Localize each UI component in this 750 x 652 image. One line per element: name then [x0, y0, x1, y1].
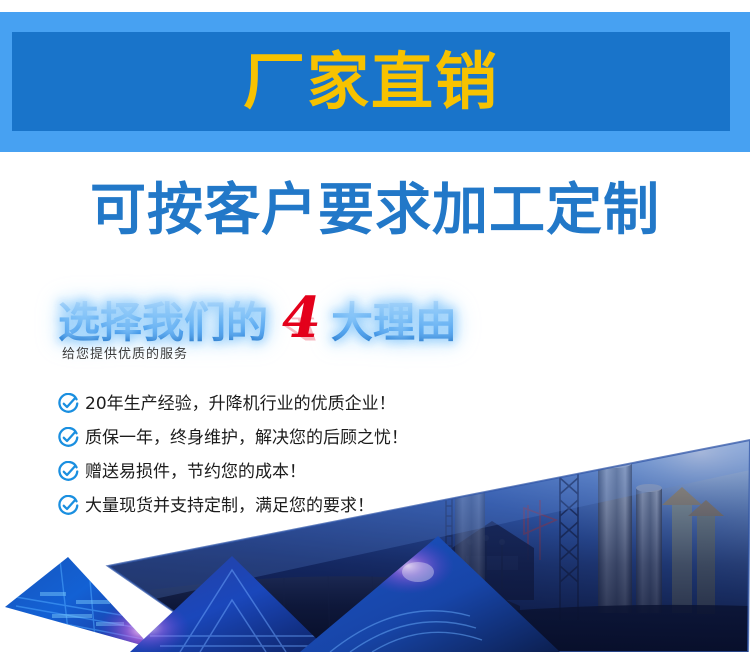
list-item-label: 赠送易损件，节约您的成本！: [85, 461, 306, 483]
reasons-heading-suffix: 大理由: [331, 299, 457, 347]
check-circle-icon: [58, 427, 79, 448]
center-triangle-shape: [110, 540, 350, 652]
list-item-label: 20年生产经验，升降机行业的优质企业！: [85, 393, 396, 415]
left-triangle-shape: [0, 540, 186, 652]
list-item: 赠送易损件，节约您的成本！: [58, 456, 498, 487]
header-banner-inner: 厂家直销: [12, 32, 730, 131]
promo-poster: 厂家直销 可按客户要求加工定制 选择我们的 4 大理由 给您提供优质的服务 20…: [0, 0, 750, 652]
page-title: 可按客户要求加工定制: [0, 176, 750, 246]
header-banner: 厂家直销: [0, 12, 750, 152]
reasons-count: 4: [282, 292, 321, 344]
reasons-heading-prefix: 选择我们的: [58, 299, 268, 347]
check-circle-icon: [58, 495, 79, 516]
list-item: 大量现货并支持定制，满足您的要求！: [58, 490, 498, 521]
benefits-list: 20年生产经验，升降机行业的优质企业！ 质保一年，终身维护，解决您的后顾之忧！ …: [58, 388, 498, 524]
check-circle-icon: [58, 461, 79, 482]
list-item-label: 质保一年，终身维护，解决您的后顾之忧！: [85, 427, 408, 449]
check-circle-icon: [58, 393, 79, 414]
list-item: 质保一年，终身维护，解决您的后顾之忧！: [58, 422, 498, 453]
banner-title: 厂家直销: [12, 50, 730, 114]
right-triangle-shape: [290, 520, 580, 652]
reasons-subtitle: 给您提供优质的服务: [62, 346, 188, 364]
reasons-heading: 选择我们的 4 大理由: [58, 292, 457, 348]
list-item-label: 大量现货并支持定制，满足您的要求！: [85, 495, 374, 517]
list-item: 20年生产经验，升降机行业的优质企业！: [58, 388, 498, 419]
